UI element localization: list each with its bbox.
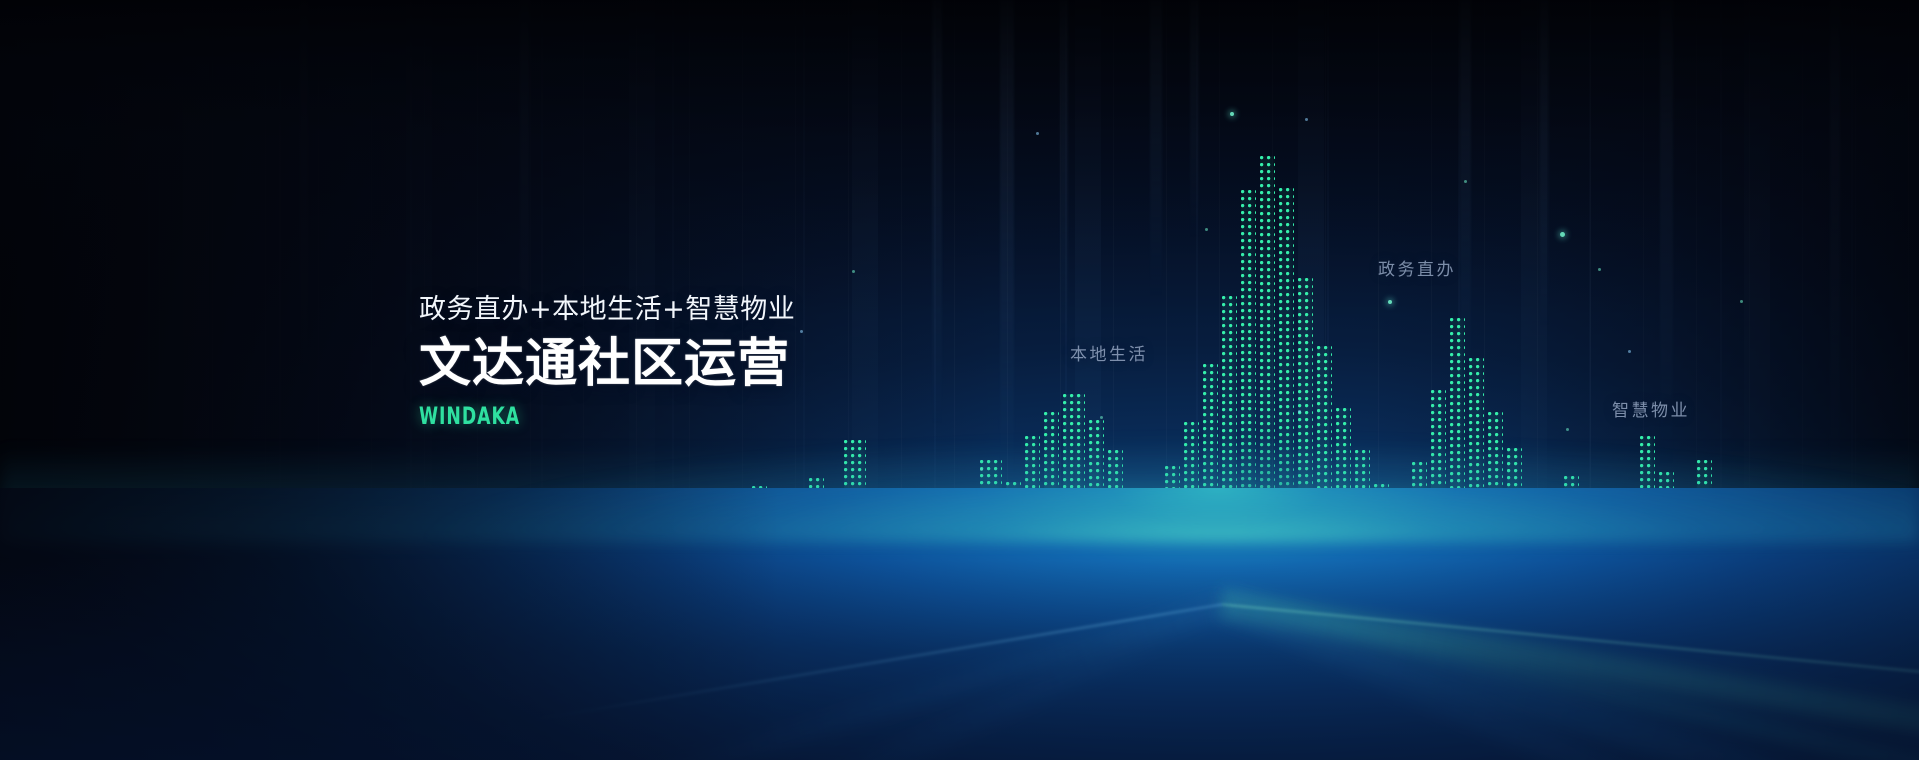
- city-label: 政务直办: [1378, 255, 1456, 280]
- floor-bottom-shadow: [0, 560, 1919, 760]
- city-label: 智慧物业: [1612, 396, 1690, 421]
- headline-block: 政务直办+本地生活+智慧物业 文达通社区运营 WINDAKA: [419, 296, 1059, 430]
- banner-title: 文达通社区运营: [419, 337, 1059, 392]
- banner-subtitle: 政务直办+本地生活+智慧物业: [419, 296, 1059, 323]
- city-label: 本地生活: [1070, 340, 1148, 365]
- hero-banner: 政务直办本地生活智慧物业 政务直办+本地生活+智慧物业 文达通社区运营 WIND…: [0, 0, 1919, 760]
- brand-wordmark: WINDAKA: [419, 402, 931, 430]
